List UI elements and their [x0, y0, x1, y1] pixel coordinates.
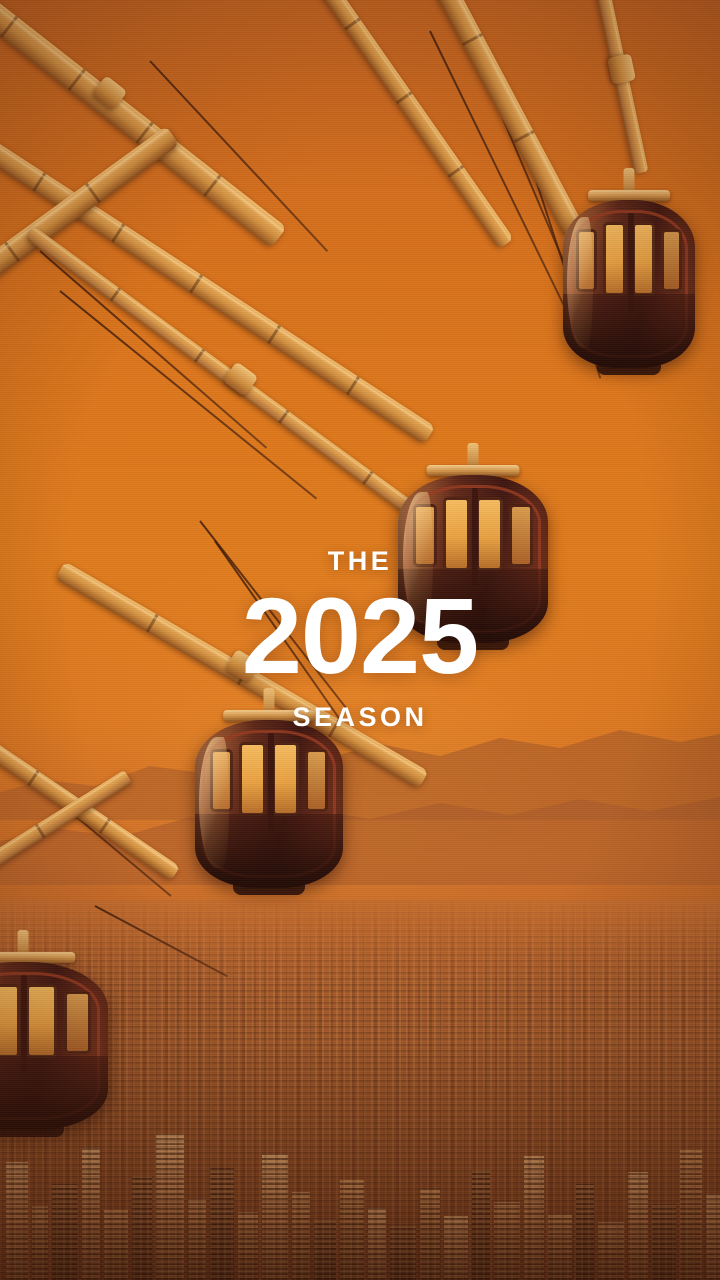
gondola-window — [603, 222, 627, 296]
gondola-window — [239, 742, 266, 816]
title-block: THE 2025 SEASON — [0, 548, 720, 731]
gondola-window — [0, 984, 20, 1058]
gondola-cabin — [0, 962, 108, 1130]
gondola-cabin — [195, 720, 343, 888]
city-mist — [0, 900, 720, 990]
gondola-lower-shell — [0, 1056, 108, 1130]
gondola-window — [64, 991, 91, 1055]
gondola-base — [233, 883, 304, 895]
gondola-window — [26, 984, 57, 1058]
cityscape — [0, 900, 720, 1280]
gondola-base — [597, 363, 660, 375]
gondola-bottom-left — [0, 930, 108, 1130]
gondola-window — [305, 749, 329, 813]
city-shadow — [0, 1040, 720, 1280]
gondola-base — [0, 1125, 64, 1137]
gondola-window — [632, 222, 656, 296]
gondola-cabin — [563, 200, 695, 368]
gondola-highlight — [567, 217, 593, 348]
title-year: 2025 — [0, 582, 720, 690]
gondola-top-right — [563, 168, 695, 368]
poster-image: THE 2025 SEASON — [0, 0, 720, 1280]
gondola-window — [272, 742, 299, 816]
gondola-highlight — [199, 737, 229, 868]
gondola-window — [661, 229, 682, 293]
title-kicker: THE — [0, 548, 720, 575]
title-suffix: SEASON — [0, 704, 720, 731]
